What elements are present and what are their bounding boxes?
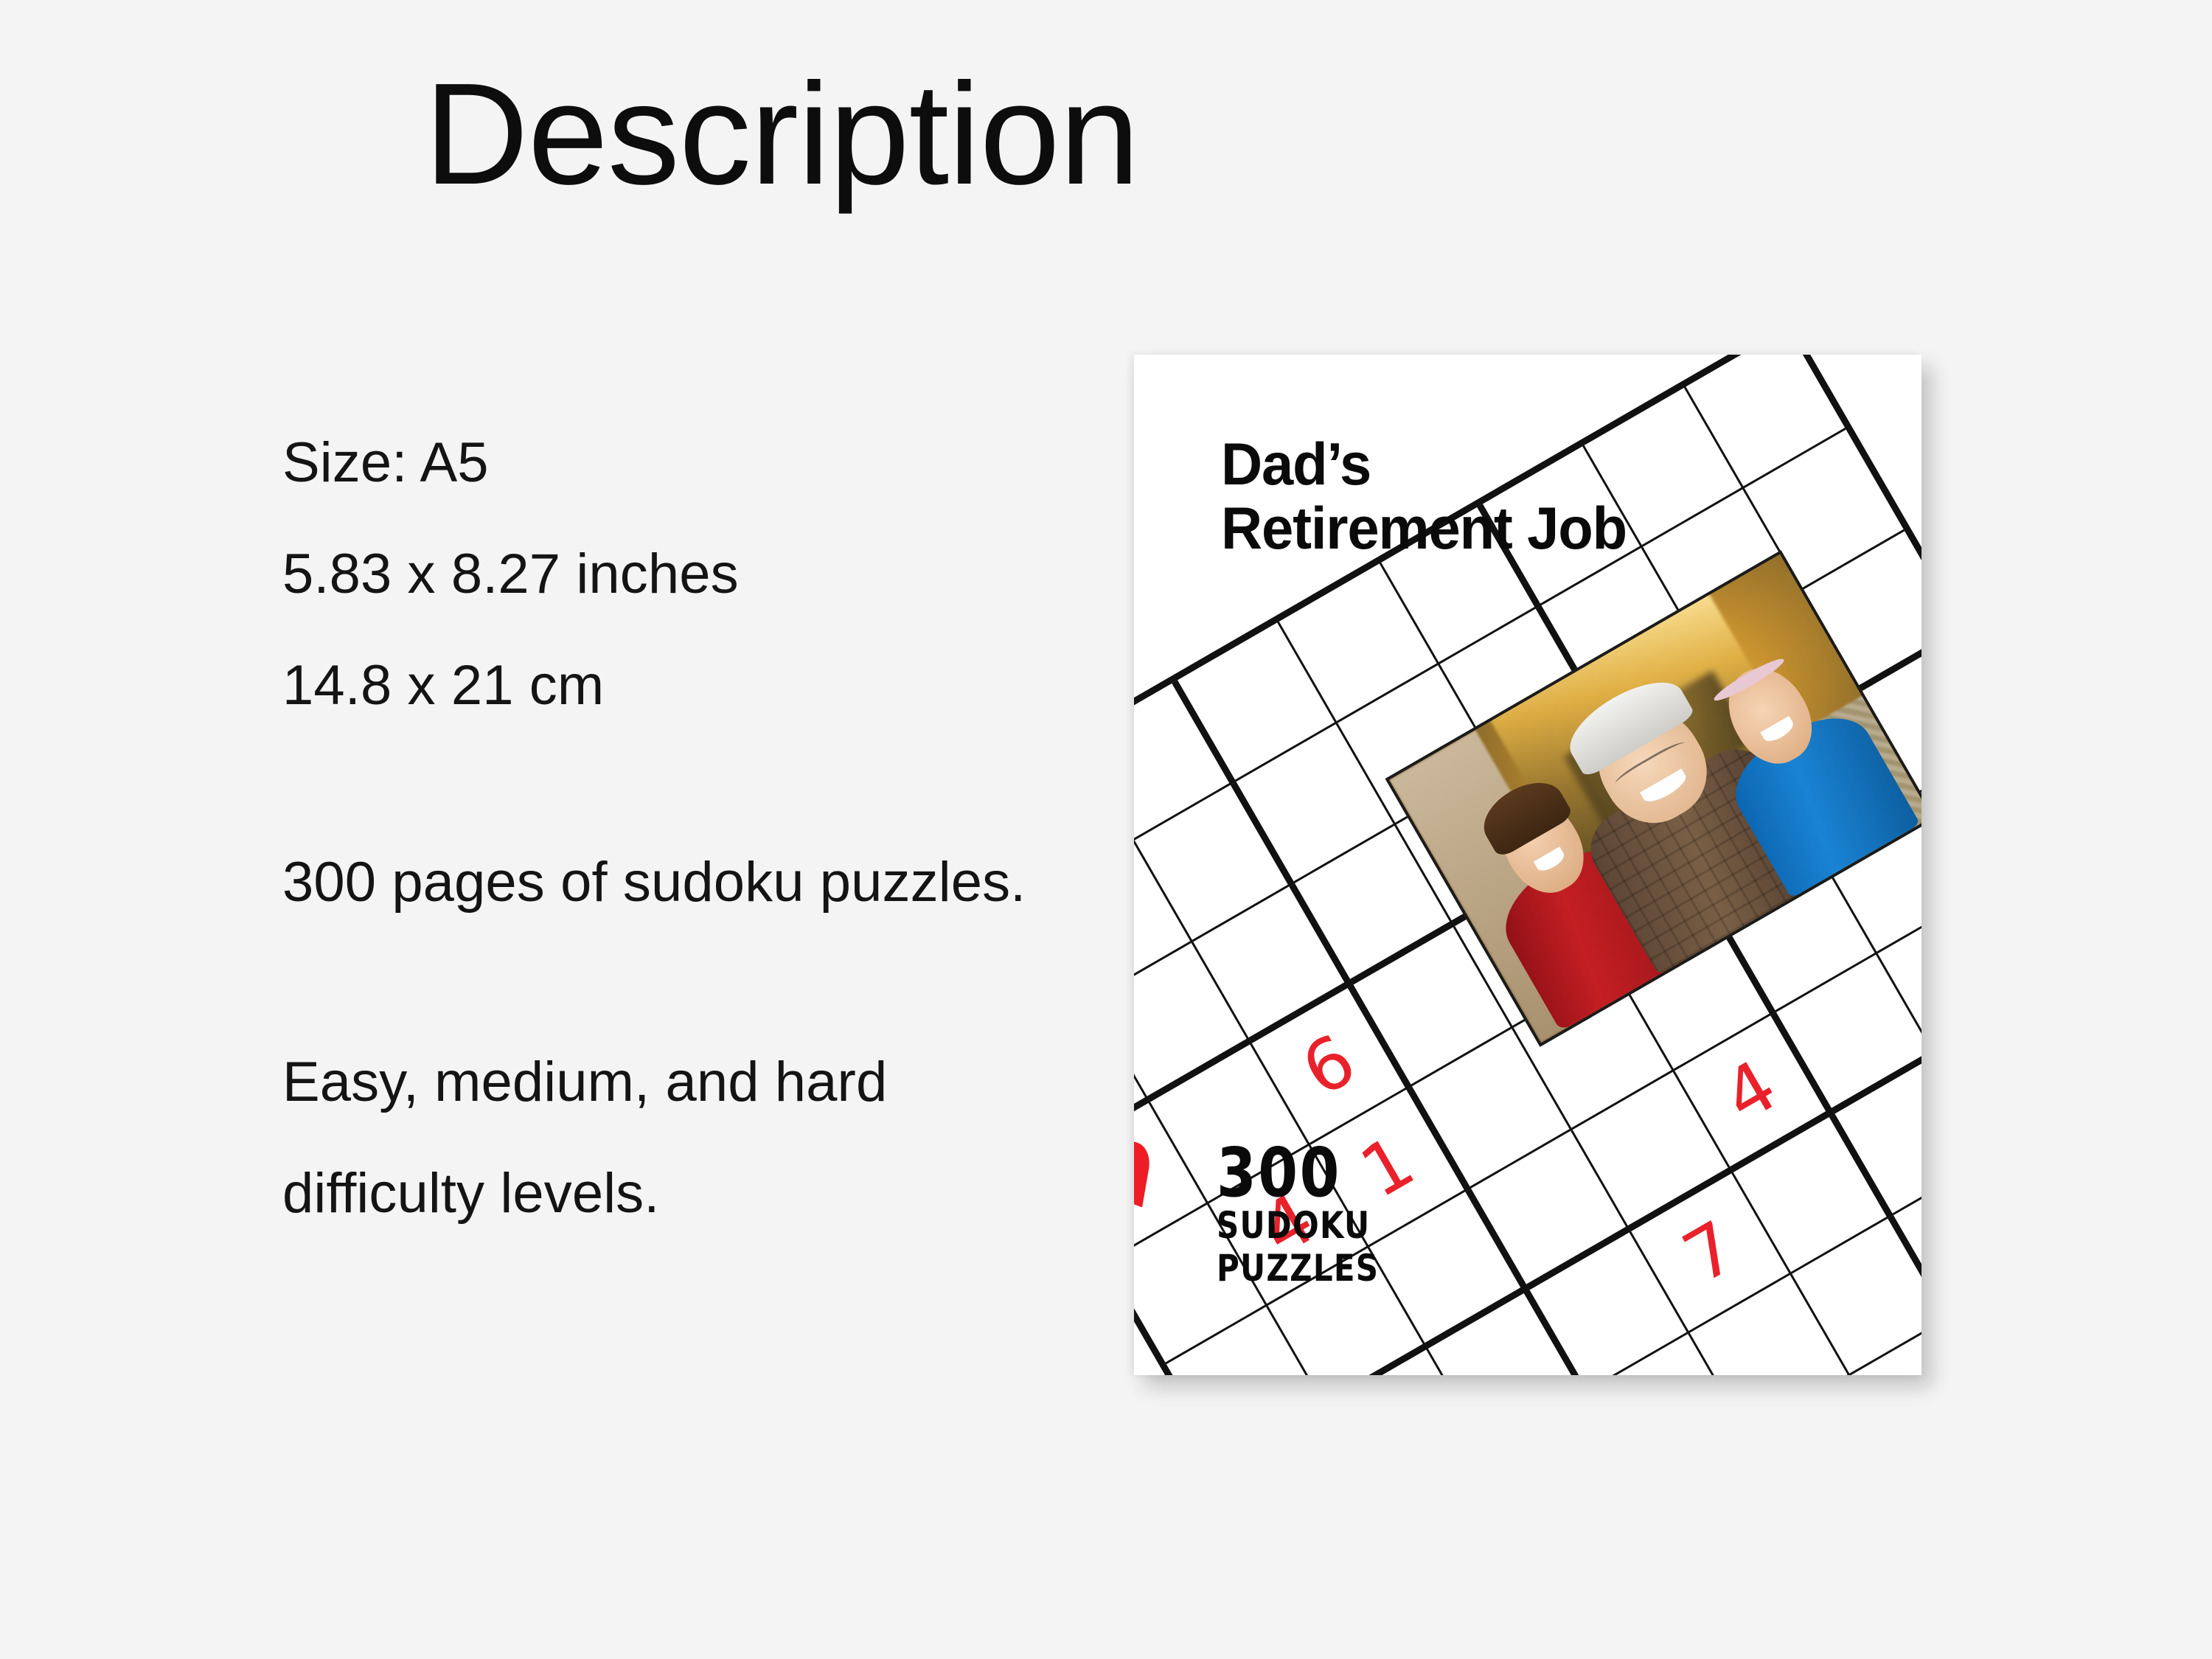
badge-count: 300 xyxy=(1217,1142,1379,1204)
badge-sub-line-2: PUZZLES xyxy=(1217,1247,1379,1290)
cover-badge: 300 SUDOKU PUZZLES xyxy=(1217,1142,1410,1290)
spacer-2 xyxy=(282,938,1064,1026)
heart-icon: ♥ xyxy=(1134,1133,1178,1231)
pages-text: 300 pages of sudoku puzzles. xyxy=(282,827,1064,938)
pages-block: 300 pages of sudoku puzzles. xyxy=(282,827,1064,938)
cover-title-line-2: Retirement Job xyxy=(1221,497,1844,561)
size-line-3: 14.8 x 21 cm xyxy=(282,630,1064,741)
badge-sub-line-1: SUDOKU xyxy=(1217,1204,1379,1247)
cover-title-line-1: Dad’s xyxy=(1221,433,1844,497)
spacer-1 xyxy=(282,741,1064,827)
difficulty-text: Easy, medium, and hard difficulty levels… xyxy=(282,1026,1064,1249)
size-line-2: 5.83 x 8.27 inches xyxy=(282,518,1064,630)
size-line-1: Size: A5 xyxy=(282,407,1064,518)
cover-title: Dad’s Retirement Job xyxy=(1221,433,1870,561)
difficulty-block: Easy, medium, and hard difficulty levels… xyxy=(282,1026,1064,1249)
description-column: Size: A5 5.83 x 8.27 inches 14.8 x 21 cm… xyxy=(282,407,1064,1249)
size-block: Size: A5 5.83 x 8.27 inches 14.8 x 21 cm xyxy=(282,407,1064,741)
page-title: Description xyxy=(0,62,1563,206)
book-cover-image: 1♥641477889 xyxy=(1134,355,1921,1375)
